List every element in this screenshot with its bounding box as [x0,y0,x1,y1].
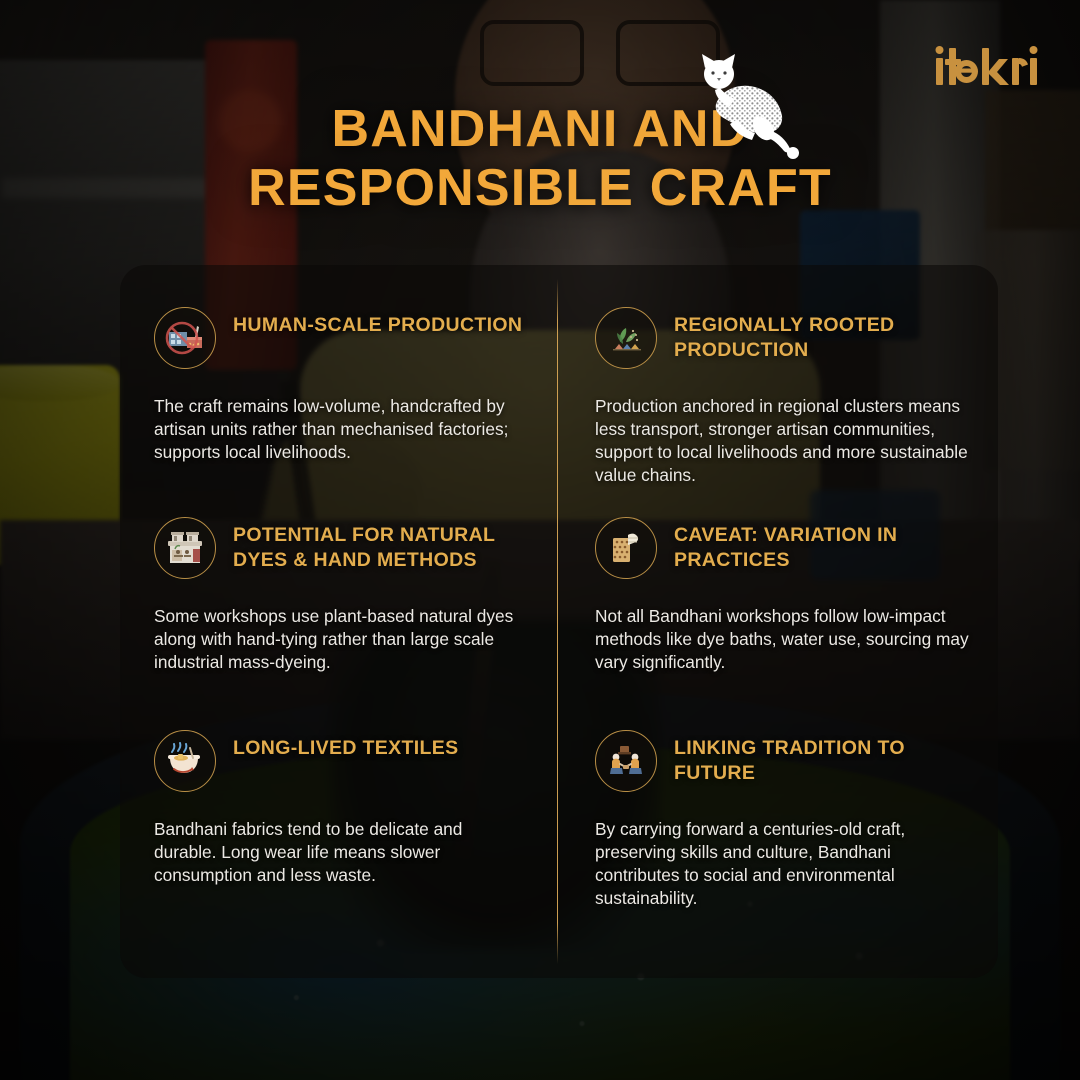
card-header: HUMAN-SCALE PRODUCTION [154,307,527,369]
card-title: REGIONALLY ROOTED PRODUCTION [674,307,974,363]
card-linking-tradition-to-future: LINKING TRADITION TO FUTURE By carrying … [557,685,998,978]
card-body: Bandhani fabrics tend to be delicate and… [154,818,527,887]
cards-grid: HUMAN-SCALE PRODUCTION The craft remains… [120,265,998,978]
card-caveat-variation-in-practices: CAVEAT: VARIATION IN PRACTICES Not all B… [557,475,998,685]
title-line-1: BANDHANI AND [0,100,1080,159]
card-natural-dyes-hand-methods: POTENTIAL FOR NATURAL DYES & HAND METHOD… [120,475,557,685]
content-panel: HUMAN-SCALE PRODUCTION The craft remains… [120,265,998,978]
no-factory-icon [154,307,216,369]
page-title: BANDHANI AND RESPONSIBLE CRAFT [0,100,1080,218]
card-body: Production anchored in regional clusters… [595,395,974,487]
two-artisans-icon [595,730,657,792]
card-human-scale-production: HUMAN-SCALE PRODUCTION The craft remains… [120,265,557,475]
card-regionally-rooted-production: REGIONALLY ROOTED PRODUCTION Production … [557,265,998,475]
card-title: LINKING TRADITION TO FUTURE [674,730,974,786]
steaming-dye-pot-icon [154,730,216,792]
card-title: HUMAN-SCALE PRODUCTION [233,307,522,338]
card-body: Not all Bandhani workshops follow low-im… [595,605,974,674]
card-header: LINKING TRADITION TO FUTURE [595,730,974,792]
title-line-2: RESPONSIBLE CRAFT [0,159,1080,218]
brand-logo[interactable] [934,44,1038,88]
card-header: CAVEAT: VARIATION IN PRACTICES [595,517,974,579]
card-title: CAVEAT: VARIATION IN PRACTICES [674,517,974,573]
workshop-stall-icon [154,517,216,579]
card-body: By carrying forward a centuries-old craf… [595,818,974,910]
card-title: LONG-LIVED TEXTILES [233,730,459,761]
card-header: POTENTIAL FOR NATURAL DYES & HAND METHOD… [154,517,527,579]
card-body: The craft remains low-volume, handcrafte… [154,395,527,464]
card-header: LONG-LIVED TEXTILES [154,730,527,792]
plants-and-dye-mounds-icon [595,307,657,369]
card-header: REGIONALLY ROOTED PRODUCTION [595,307,974,369]
hand-holding-fabric-icon [595,517,657,579]
card-title: POTENTIAL FOR NATURAL DYES & HAND METHOD… [233,517,527,573]
card-long-lived-textiles: LONG-LIVED TEXTILES Bandhani fabrics ten… [120,685,557,978]
infographic-canvas: BANDHANI AND RESPONSIBLE CRAFT [0,0,1080,1080]
card-body: Some workshops use plant-based natural d… [154,605,527,674]
